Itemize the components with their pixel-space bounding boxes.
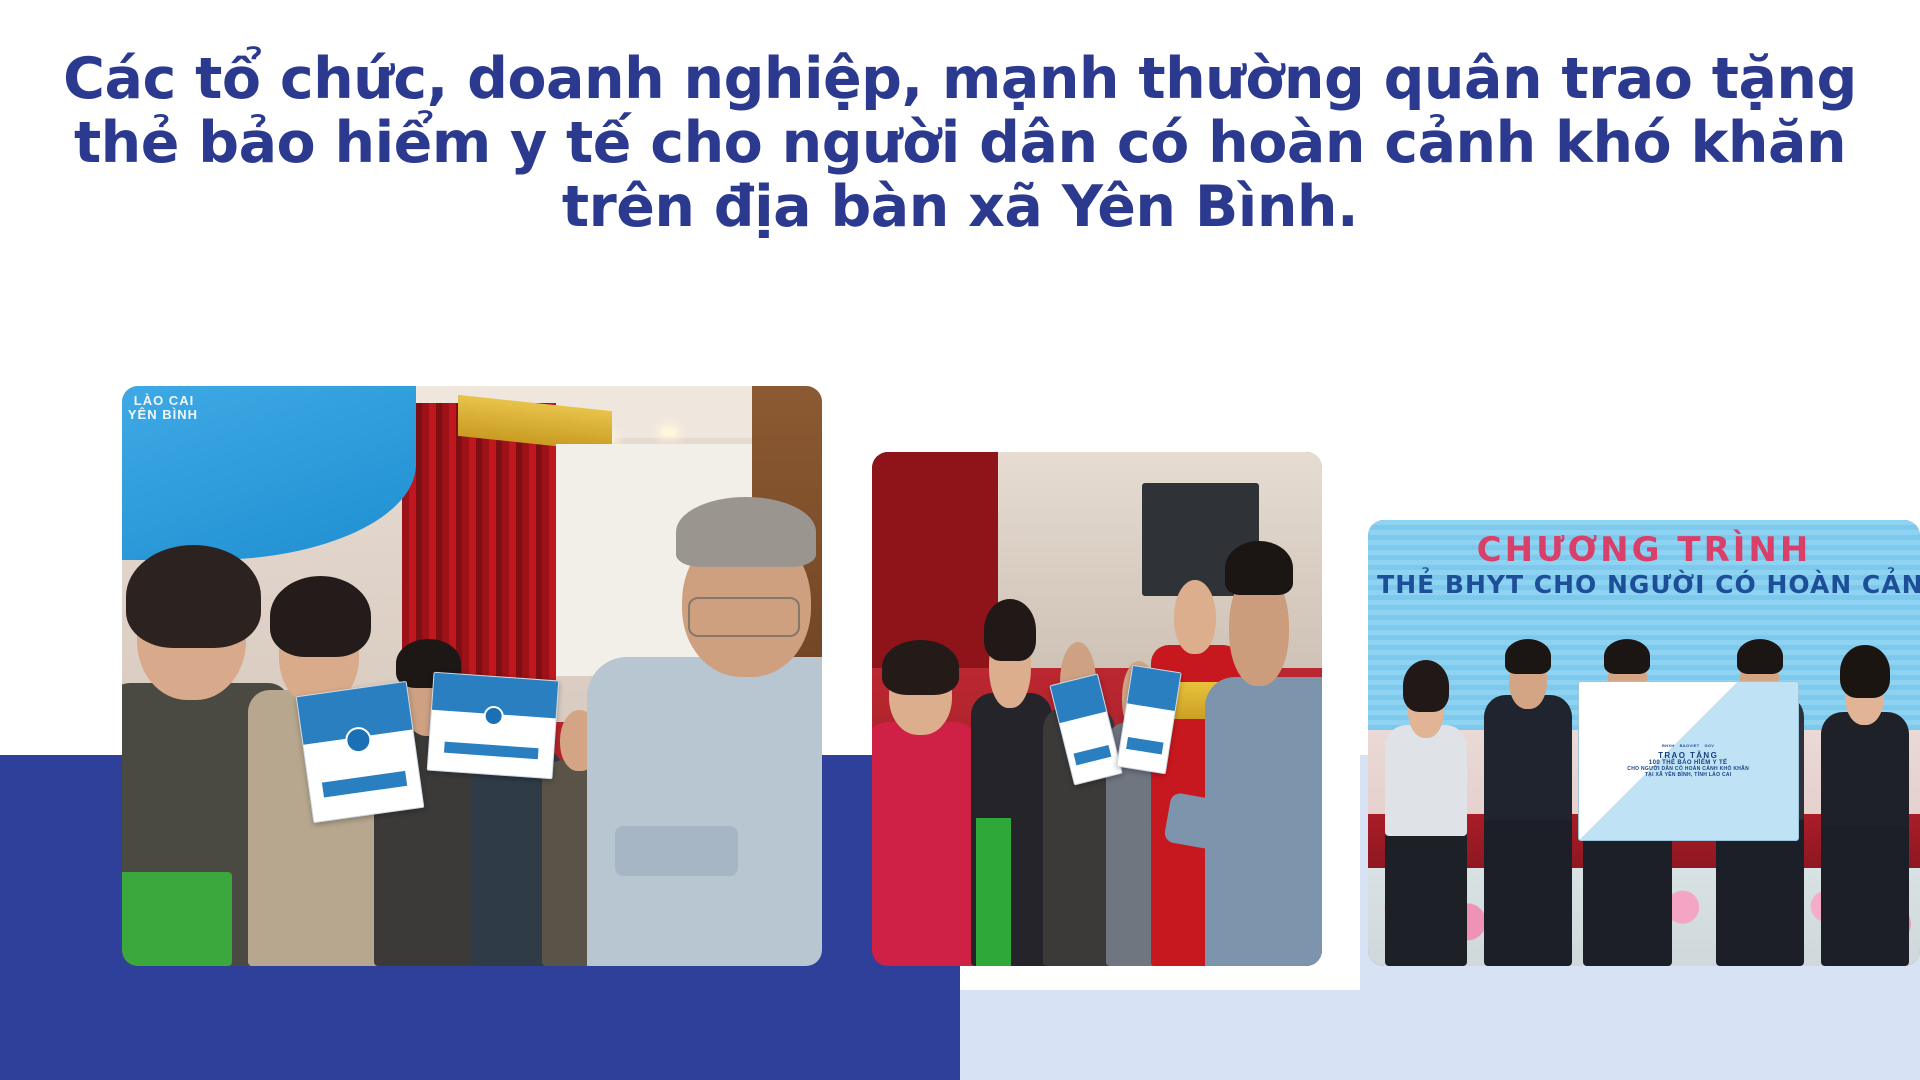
person-official-shaking-hands xyxy=(1205,514,1322,966)
person-man-suit-1 xyxy=(1484,618,1572,966)
hair xyxy=(270,576,372,657)
backdrop-text-yen-binh: YÊN BÌNH xyxy=(128,407,198,422)
poster-root: Các tổ chức, doanh nghiệp, mạnh thường q… xyxy=(0,0,1920,1080)
envelope-header-band xyxy=(1051,675,1106,724)
hair xyxy=(1505,639,1551,674)
person-woman-dark-suit xyxy=(1821,632,1909,967)
photo-1-scene: LÀO CAI YÊN BÌNH xyxy=(122,386,822,966)
photo-1: LÀO CAI YÊN BÌNH xyxy=(122,386,822,966)
envelope-header-band xyxy=(1127,666,1180,711)
backdrop-text-lao-cai: LÀO CAI xyxy=(134,393,194,408)
decor-band-light-blue-bottom xyxy=(960,990,1920,1080)
banner-title: CHƯƠNG TRÌNH xyxy=(1368,530,1920,570)
person-woman-black-coat xyxy=(971,575,1052,966)
green-skirt xyxy=(976,818,1012,966)
placard-line-1: TRAO TẶNG xyxy=(1658,751,1718,760)
green-sash xyxy=(122,872,232,966)
envelope-footer-band xyxy=(1126,736,1164,754)
hair xyxy=(1737,639,1783,674)
page-title: Các tổ chức, doanh nghiệp, mạnh thường q… xyxy=(60,48,1860,239)
bhyt-card-envelope xyxy=(296,680,425,822)
person-official-giving-card xyxy=(570,467,822,966)
hair xyxy=(1604,639,1650,674)
person-woman-red-coat xyxy=(872,627,980,966)
logo-gov-icon: GOV xyxy=(1704,743,1714,748)
hair xyxy=(1403,660,1449,712)
symbolic-donation-placard: BHXH BAOVIET GOV TRAO TẶNG 100 THẺ BẢO H… xyxy=(1578,681,1799,842)
logo-baoviet-icon: BAOVIET xyxy=(1680,743,1700,748)
envelope-footer-band xyxy=(1073,745,1111,765)
arm xyxy=(615,826,738,876)
envelope-footer-band xyxy=(322,770,407,797)
photo-2-scene xyxy=(872,452,1322,966)
placard-logo-row: BHXH BAOVIET GOV xyxy=(1662,743,1714,748)
person-woman-white-blazer xyxy=(1385,640,1468,966)
eyeglasses-icon xyxy=(688,597,800,637)
hair xyxy=(984,599,1036,662)
photo-3: CHƯƠNG TRÌNH G THẺ BHYT CHO NGƯỜI CÓ HOÀ… xyxy=(1368,520,1920,966)
hair xyxy=(882,640,959,694)
bhxh-seal-icon xyxy=(483,705,504,726)
bhyt-card-envelope xyxy=(427,672,560,779)
hair xyxy=(676,497,816,567)
placard-line-4: TẠI XÃ YÊN BÌNH, TỈNH LÀO CAI xyxy=(1645,772,1732,778)
banner-subtitle: G THẺ BHYT CHO NGƯỜI CÓ HOÀN CẢNH K xyxy=(1368,570,1920,599)
logo-bhxh-icon: BHXH xyxy=(1662,743,1675,748)
hair xyxy=(1840,645,1889,699)
ceiling-light-icon xyxy=(661,427,677,436)
envelope-footer-band xyxy=(444,741,539,759)
photo-2 xyxy=(872,452,1322,966)
photo-3-scene: CHƯƠNG TRÌNH G THẺ BHYT CHO NGƯỜI CÓ HOÀ… xyxy=(1368,520,1920,966)
person-queue-member xyxy=(1043,606,1115,966)
hair xyxy=(1225,541,1293,595)
hair xyxy=(126,545,261,648)
